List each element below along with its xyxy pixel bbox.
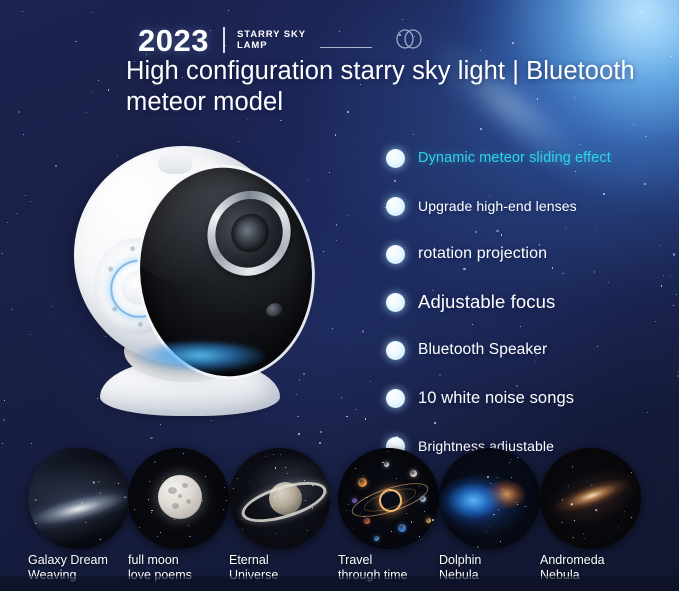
sensor-dot: [265, 302, 283, 319]
divider-bar: [223, 27, 225, 53]
scene-image-saturn: [229, 448, 330, 549]
scene-thumbnail-row: Galaxy Dream Weavingfull moon love poems…: [0, 448, 679, 591]
scene-thumbnail[interactable]: full moon love poems: [128, 448, 229, 582]
scene-image-moon: [128, 448, 229, 549]
bullet-dot-icon: [386, 389, 405, 408]
scene-thumbnail[interactable]: Eternal Universe: [229, 448, 330, 582]
bullet-dot-icon: [386, 245, 405, 264]
scene-thumbnail[interactable]: Dolphin Nebula: [439, 448, 540, 582]
double-circle-logo-icon: [394, 29, 424, 54]
bullet-dot-icon: [386, 197, 405, 216]
feature-label: 10 white noise songs: [418, 389, 574, 408]
lens-glass: [226, 208, 275, 259]
feature-label: Adjustable focus: [418, 291, 555, 313]
scene-image-dolphin-nebula: [439, 448, 540, 549]
scene-thumbnail[interactable]: Andromeda Nebula: [540, 448, 641, 582]
page-title: High configuration starry sky light | Bl…: [126, 56, 646, 118]
bullet-dot-icon: [386, 341, 405, 360]
product-body: [74, 146, 292, 364]
feature-label: Bluetooth Speaker: [418, 341, 547, 359]
feature-item: Upgrade high-end lenses: [386, 182, 611, 230]
year-label: 2023: [138, 25, 209, 56]
bullet-dot-icon: [386, 293, 405, 312]
feature-item: Dynamic meteor sliding effect: [386, 134, 611, 182]
bullet-dot-icon: [386, 149, 405, 168]
scene-thumbnail[interactable]: Galaxy Dream Weaving: [28, 448, 129, 582]
header-rule: [320, 47, 372, 48]
feature-label: rotation projection: [418, 245, 547, 263]
feature-label: Dynamic meteor sliding effect: [418, 150, 611, 166]
scene-image-solar-system: [338, 448, 439, 549]
bottom-strip: [0, 576, 679, 591]
header-eyebrow: 2023 STARRY SKY LAMP: [138, 22, 424, 58]
feature-item: Adjustable focus: [386, 278, 611, 326]
product-image: [62, 128, 312, 428]
feature-item: rotation projection: [386, 230, 611, 278]
feature-item: Bluetooth Speaker: [386, 326, 611, 374]
product-ear: [158, 152, 192, 174]
blue-accent-light: [134, 342, 266, 372]
scene-image-andromeda-nebula: [540, 448, 641, 549]
brand-label: STARRY SKY LAMP: [237, 29, 306, 51]
feature-label: Upgrade high-end lenses: [418, 198, 577, 214]
feature-item: 10 white noise songs: [386, 374, 611, 422]
scene-image-galaxy: [28, 448, 129, 549]
product-poster: 2023 STARRY SKY LAMP High configuration …: [0, 0, 679, 591]
scene-thumbnail[interactable]: Travel through time: [338, 448, 439, 582]
feature-list: Dynamic meteor sliding effectUpgrade hig…: [386, 134, 611, 470]
